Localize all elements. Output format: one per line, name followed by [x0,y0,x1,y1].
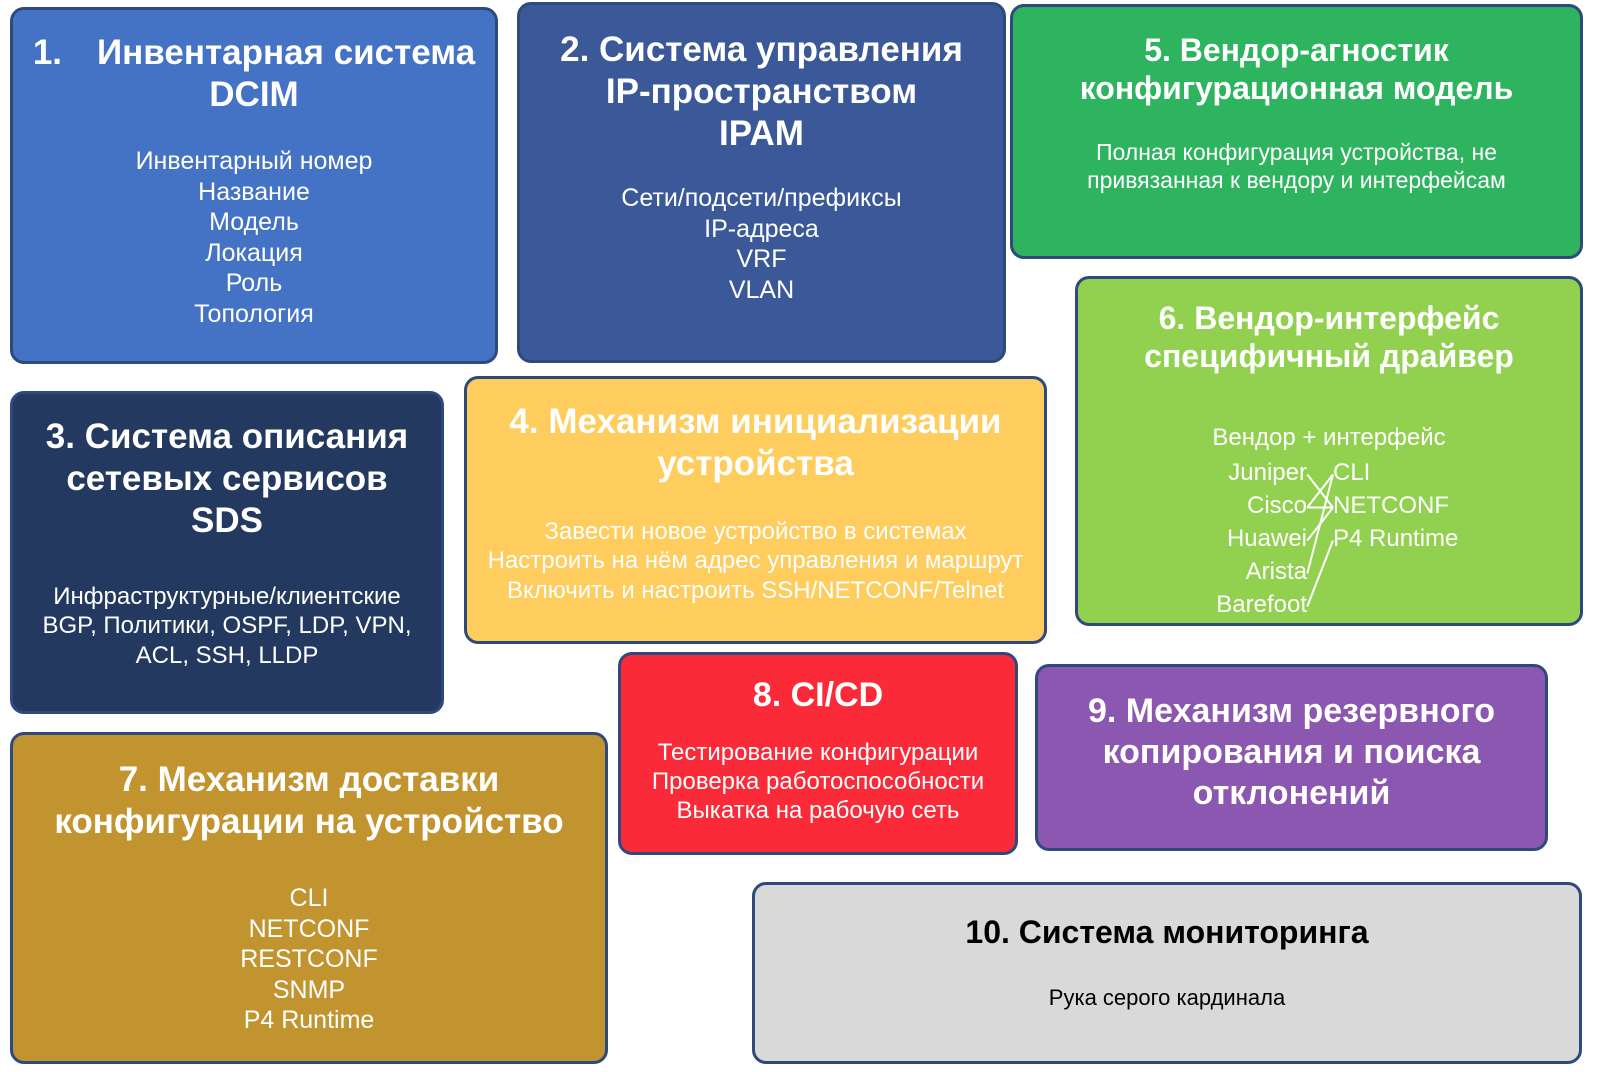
box-4-body: Завести новое устройство в системах Наст… [481,485,1030,605]
box-7-body: CLI NETCONF RESTCONF SNMP P4 Runtime [27,843,591,1036]
vendor-label: Cisco [1216,489,1307,522]
mapping-line [1307,474,1333,573]
box-3-title: 3. Система описания сетевых сервисов SDS [27,404,427,542]
box-6-title: 6. Вендор-интерфейс специфичный драйвер [1092,289,1566,376]
box-vendor-agnostic-configuration-model[interactable]: 5. Вендор-агностик конфигурационная моде… [1010,4,1583,259]
box-1-body: Инвентарный номер Название Модель Локаци… [27,116,481,329]
box-7-title: 7. Механизм доставки конфигурации на уст… [27,745,591,843]
box-2-body: Сети/подсети/префиксы IP-адреса VRF VLAN [534,155,989,305]
box-3-body: Инфраструктурные/клиентские BGP, Политик… [27,542,427,670]
interface-label: CLI [1333,456,1458,489]
box-10-title: 10. Система мониторинга [769,895,1565,951]
box-5-title: 5. Вендор-агностик конфигурационная моде… [1027,17,1566,108]
box-8-title: 8. CI/CD [635,665,1001,716]
vendor-interface-mapping-header: Вендор + интерфейс [1092,376,1566,452]
vendor-interface-mapping: JuniperCiscoHuaweiAristaBarefoot CLINETC… [1092,456,1566,626]
vendor-label: Juniper [1216,456,1307,489]
box-ip-space-management-ipam[interactable]: 2. Система управления IP-пространством I… [517,2,1006,363]
interface-column: CLINETCONFP4 Runtime [1333,456,1458,555]
box-inventory-system-dcim[interactable]: 1. Инвентарная система DCIM Инвентарный … [10,7,498,364]
box-network-service-description-sds[interactable]: 3. Система описания сетевых сервисов SDS… [10,391,444,714]
box-ci-cd[interactable]: 8. CI/CD Тестирование конфигурации Прове… [618,652,1018,855]
box-9-title: 9. Механизм резервного копирования и пои… [1052,677,1531,813]
mapping-line [1307,540,1333,606]
box-10-body: Рука серого кардинала [769,951,1565,1012]
box-device-initialization-mechanism[interactable]: 4. Механизм инициализации устройства Зав… [464,376,1047,644]
box-monitoring-system[interactable]: 10. Система мониторинга Рука серого кард… [752,882,1582,1064]
interface-label: P4 Runtime [1333,522,1458,555]
box-vendor-interface-specific-driver[interactable]: 6. Вендор-интерфейс специфичный драйвер … [1075,276,1583,626]
box-2-title: 2. Система управления IP-пространством I… [534,15,989,155]
box-backup-and-drift-detection-mechanism[interactable]: 9. Механизм резервного копирования и пои… [1035,664,1548,851]
vendor-label: Arista [1216,555,1307,588]
diagram-canvas: 1. Инвентарная система DCIM Инвентарный … [0,0,1598,1072]
vendor-label: Huawei [1216,522,1307,555]
vendor-column: JuniperCiscoHuaweiAristaBarefoot [1216,456,1307,621]
vendor-interface-connector-lines [1092,456,1566,626]
box-8-body: Тестирование конфигурации Проверка работ… [635,716,1001,826]
vendor-label: Barefoot [1216,588,1307,621]
box-5-body: Полная конфигурация устройства, не привя… [1027,108,1566,194]
interface-label: NETCONF [1333,489,1458,522]
box-configuration-delivery-mechanism[interactable]: 7. Механизм доставки конфигурации на уст… [10,732,608,1064]
box-4-title: 4. Механизм инициализации устройства [481,389,1030,485]
box-1-title: 1. Инвентарная система DCIM [27,20,481,116]
